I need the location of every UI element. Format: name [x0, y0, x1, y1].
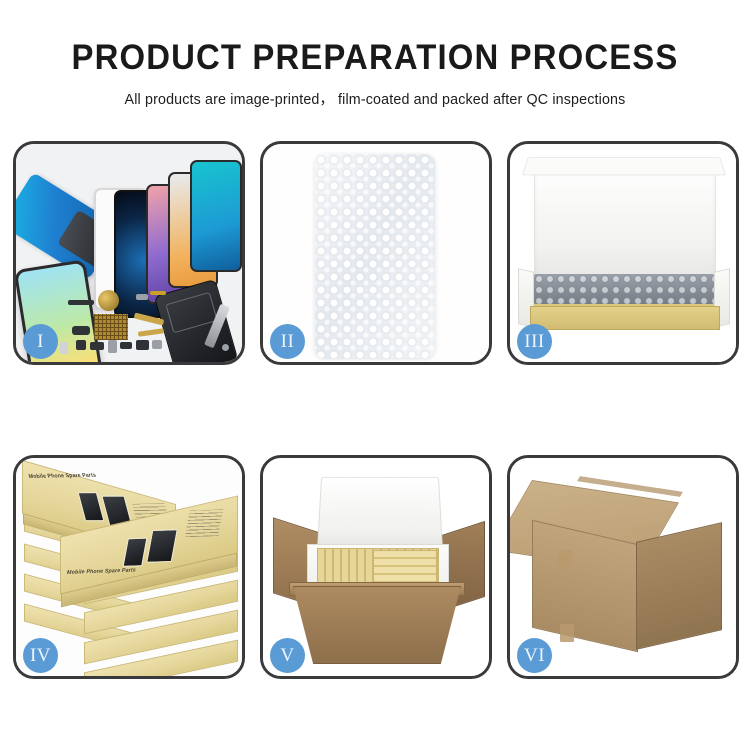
step-panel-2[interactable]: II [260, 141, 492, 365]
styrofoam-lid [317, 477, 443, 554]
connector-part [120, 342, 132, 349]
step-panel-4[interactable]: Mobile Phone Spare Parts Mobile Phone Sp… [13, 455, 245, 679]
sim-tray-part [108, 340, 117, 353]
speaker-coil-part [98, 290, 119, 311]
contact-pad-grid-part [94, 314, 128, 340]
page-subtitle: All products are image-printed， film-coa… [6, 88, 745, 109]
box-artwork-phone-2 [146, 529, 178, 563]
step-panel-6[interactable]: VI [507, 455, 739, 679]
box-label-text: Mobile Phone Spare Parts [66, 567, 136, 576]
step-badge-4: IV [23, 638, 58, 673]
bubble-wrapped-contents [534, 274, 714, 304]
gold-flex-contact-part [150, 291, 166, 295]
step-panel-3[interactable]: III [507, 141, 739, 365]
carton-body [293, 586, 461, 664]
bubble-wrap-sheet [315, 154, 435, 358]
antenna-part [136, 340, 149, 350]
carton-right-face [636, 522, 722, 650]
step-badge-5: V [270, 638, 305, 673]
phone-screen-teal [190, 160, 242, 272]
battery-connector-part [60, 342, 68, 354]
carton-tape-lower [560, 624, 574, 642]
step-panel-1[interactable]: I [13, 141, 245, 365]
box-spec-text-block [185, 509, 223, 537]
step-badge-1: I [23, 324, 58, 359]
button-flex-part [90, 342, 104, 350]
step-badge-3: III [517, 324, 552, 359]
step-badge-6: VI [517, 638, 552, 673]
vibrator-motor-part [76, 340, 86, 350]
screw-set-part [152, 340, 162, 349]
carton-tape-upper [558, 550, 572, 568]
bubble-wrap-highlight [315, 154, 435, 358]
process-step-grid: I II III [13, 141, 739, 679]
box-artwork-phone-1 [78, 492, 105, 521]
page-header: PRODUCT PREPARATION PROCESS All products… [0, 0, 750, 109]
box-artwork-phone-1 [123, 538, 148, 567]
box-stack: Mobile Phone Spare Parts Mobile Phone Sp… [22, 470, 240, 670]
earpiece-part [68, 300, 94, 305]
small-bracket-part [136, 294, 148, 300]
foam-pad-upright [534, 162, 716, 282]
screw-part [222, 344, 229, 351]
flex-cable-part-2 [138, 328, 164, 337]
page-title: PRODUCT PREPARATION PROCESS [23, 40, 728, 77]
step-badge-2: II [270, 324, 305, 359]
box-label-text: Mobile Phone Spare Parts [28, 473, 97, 481]
inner-box-front-panel [530, 306, 720, 330]
carton-left-face [532, 520, 638, 652]
camera-module-part [72, 326, 90, 335]
step-panel-5[interactable]: V [260, 455, 492, 679]
